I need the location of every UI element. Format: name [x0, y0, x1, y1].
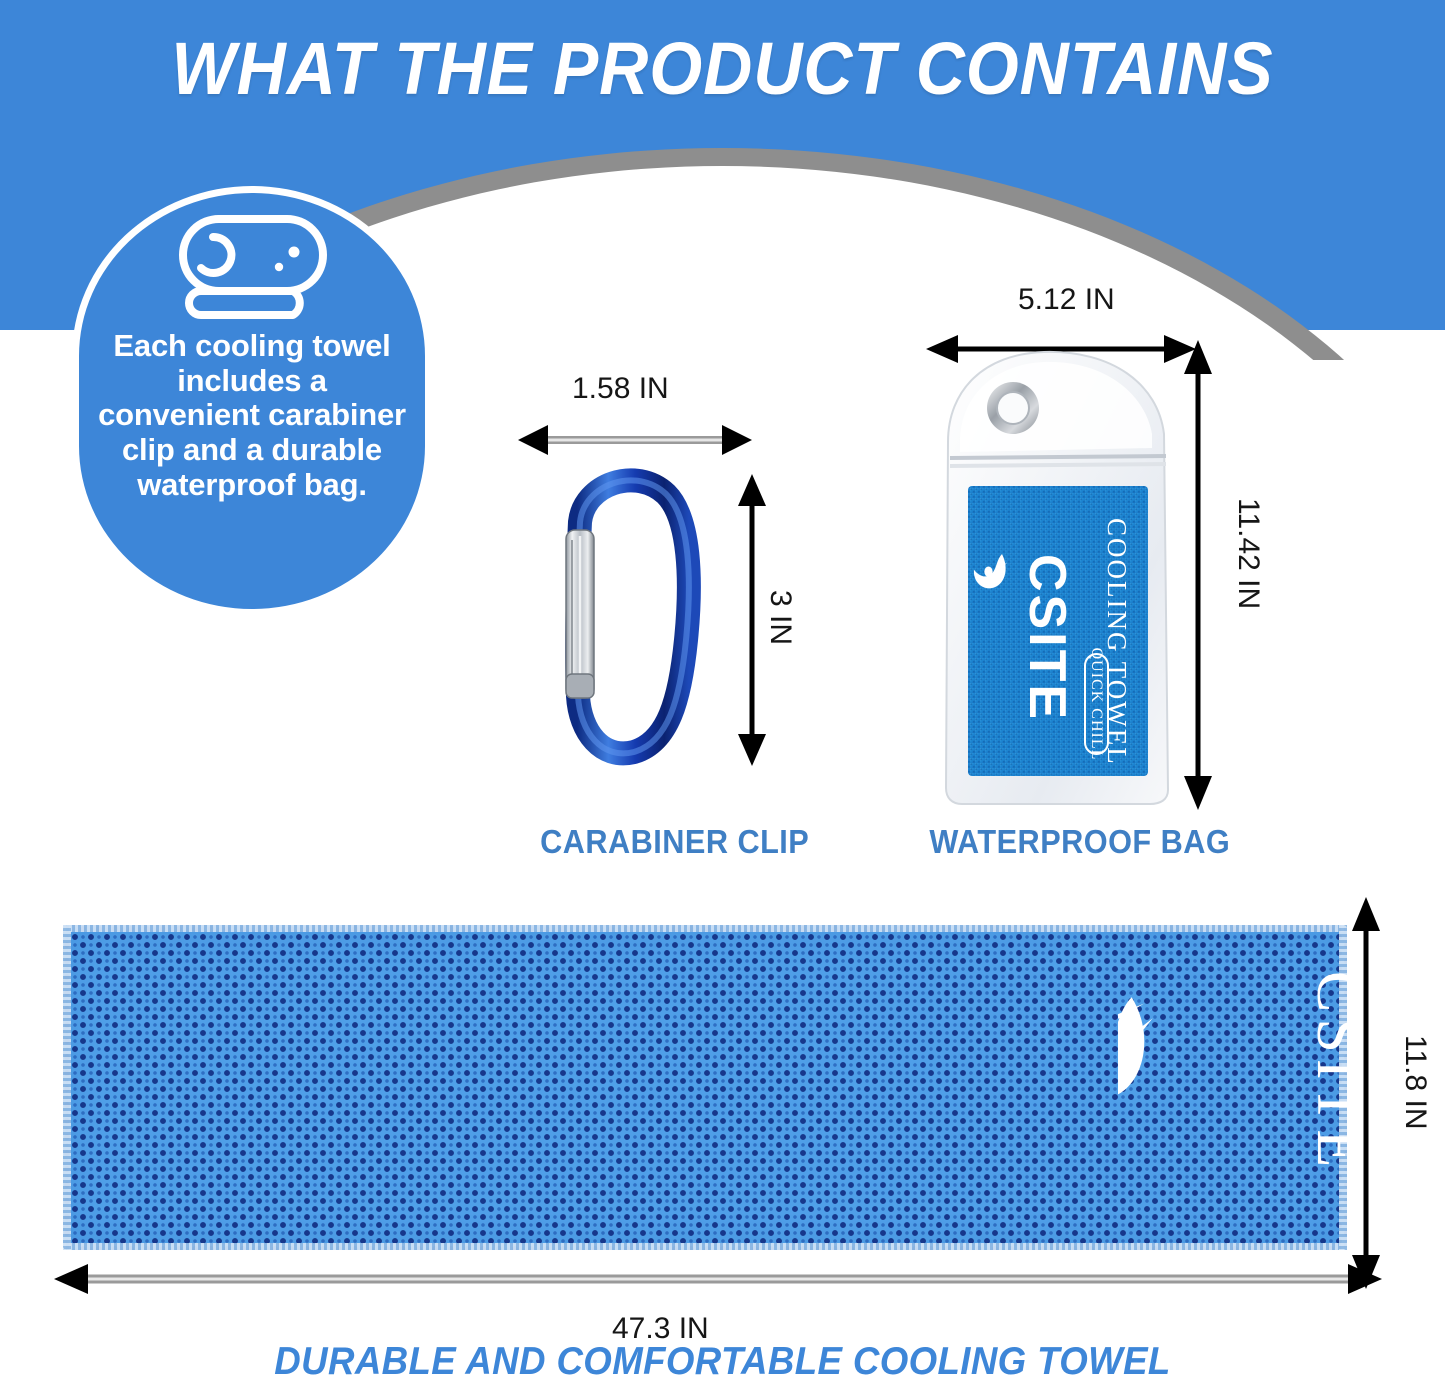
carabiner-width-label: 1.58 IN: [572, 372, 669, 406]
towel-height-label: 11.8 IN: [1398, 1035, 1432, 1130]
carabiner-caption: CARABINER CLIP: [540, 823, 809, 861]
carabiner-height-label: 3 IN: [763, 590, 797, 645]
bag-towel-brand: CSITE: [1018, 554, 1076, 722]
rolled-towel-icon: [167, 211, 337, 323]
waterproof-bag-image: CSITE COOLING TOWEL QUICK CHILL: [940, 338, 1180, 808]
bag-towel-line-2: QUICK CHILL: [1088, 648, 1105, 761]
page-title: WHAT THE PRODUCT CONTAINS: [58, 26, 1387, 111]
carabiner-width-arrow: [510, 418, 760, 462]
bag-width-label: 5.12 IN: [1018, 283, 1115, 317]
towel-width-arrow: [48, 1258, 1388, 1300]
carabiner-clip-image: [540, 460, 730, 780]
towel-hem-bottom: [63, 1243, 1347, 1250]
info-badge-text: Each cooling towel includes a convenient…: [79, 323, 425, 503]
towel-height-arrow: [1344, 893, 1388, 1293]
waterproof-bag-caption: WATERPROOF BAG: [929, 823, 1230, 861]
bag-towel-line-1: COOLING TOWEL: [1102, 518, 1132, 766]
bag-height-label: 11.42 IN: [1231, 498, 1265, 609]
towel-hem-top: [63, 925, 1347, 932]
towel-hem-left: [63, 925, 71, 1250]
bag-height-arrow: [1176, 336, 1220, 814]
footer-caption: DURABLE AND COMFORTABLE COOLING TOWEL: [43, 1340, 1401, 1384]
info-badge: Each cooling towel includes a convenient…: [72, 186, 432, 616]
main-cooling-towel-image: CSITE: [63, 925, 1347, 1250]
